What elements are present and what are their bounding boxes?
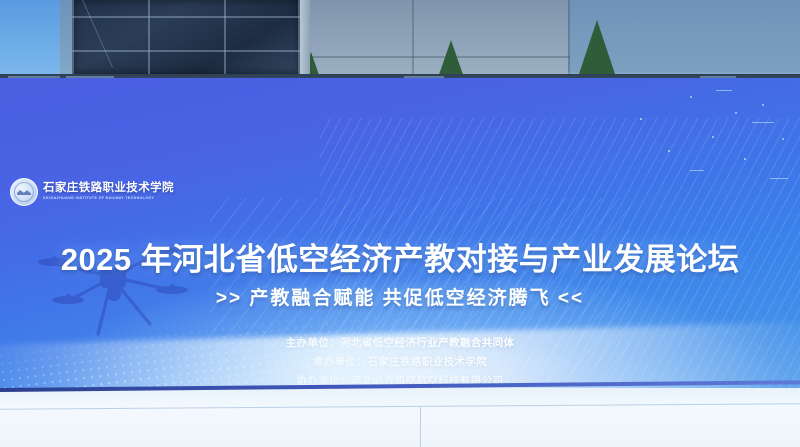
glass-curtain-wall xyxy=(72,0,300,74)
particle-speck xyxy=(782,138,784,140)
particle-speck xyxy=(762,104,764,106)
particle-speck xyxy=(735,112,737,114)
particle-dash xyxy=(752,122,774,123)
particle-speck xyxy=(744,158,746,160)
facade-pillar xyxy=(300,0,310,76)
photo-scene: 石家庄铁路职业技术学院 SHIJIAZHUANG INSTITUTE OF RA… xyxy=(0,0,800,447)
university-seal-icon xyxy=(10,178,38,206)
event-banner: 石家庄铁路职业技术学院 SHIJIAZHUANG INSTITUTE OF RA… xyxy=(0,78,800,393)
particle-speck xyxy=(712,136,714,138)
particle-speck xyxy=(690,96,692,98)
wall-seam xyxy=(568,0,570,76)
particle-dash xyxy=(690,170,704,171)
institution-name-cn: 石家庄铁路职业技术学院 xyxy=(43,183,174,195)
floor-seam xyxy=(420,406,421,447)
particle-speck xyxy=(668,150,670,152)
wall-seam xyxy=(412,0,414,78)
institution-logo: 石家庄铁路职业技术学院 SHIJIAZHUANG INSTITUTE OF RA… xyxy=(10,178,174,206)
particle-dash xyxy=(770,178,788,179)
institution-name-en: SHIJIAZHUANG INSTITUTE OF RAILWAY TECHNO… xyxy=(43,197,174,201)
particle-speck xyxy=(640,118,642,120)
floor xyxy=(0,388,800,447)
event-title: 2025 年河北省低空经济产教对接与产业发展论坛 xyxy=(0,234,800,279)
particle-dash xyxy=(716,90,732,91)
floor-seam xyxy=(0,403,800,410)
